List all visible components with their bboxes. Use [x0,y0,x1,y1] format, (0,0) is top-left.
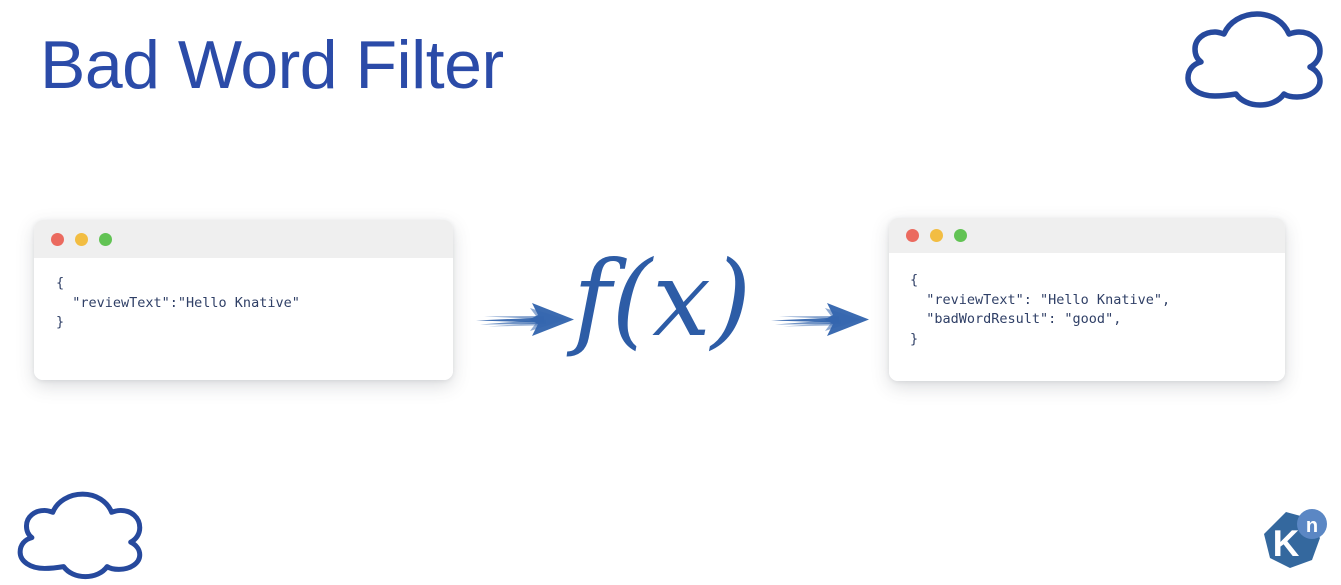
window-titlebar [889,218,1285,253]
knative-letter-k: K [1273,523,1300,564]
response-code-window: { "reviewText": "Hello Knative", "badWor… [889,218,1285,381]
maximize-dot[interactable] [954,229,967,242]
knative-letter-n: n [1306,515,1318,537]
close-dot[interactable] [906,229,919,242]
arrow-right-icon-response [769,297,873,343]
knative-logo: K n [1256,506,1330,580]
request-code-window: { "reviewText":"Hello Knative" } [34,220,453,380]
response-json-code: { "reviewText": "Hello Knative", "badWor… [889,271,1285,349]
function-label: f(x) [573,247,748,351]
window-body: { "reviewText":"Hello Knative" } [34,258,453,380]
window-titlebar [34,220,453,258]
window-body: { "reviewText": "Hello Knative", "badWor… [889,253,1285,381]
minimize-dot[interactable] [75,233,88,246]
close-dot[interactable] [51,233,64,246]
cloud-icon-bottom-left [2,486,147,582]
arrow-right-icon-request [474,297,578,343]
minimize-dot[interactable] [930,229,943,242]
maximize-dot[interactable] [99,233,112,246]
request-json-code: { "reviewText":"Hello Knative" } [34,274,453,333]
page-title: Bad Word Filter [40,28,504,103]
cloud-icon-top-right [1168,8,1328,108]
